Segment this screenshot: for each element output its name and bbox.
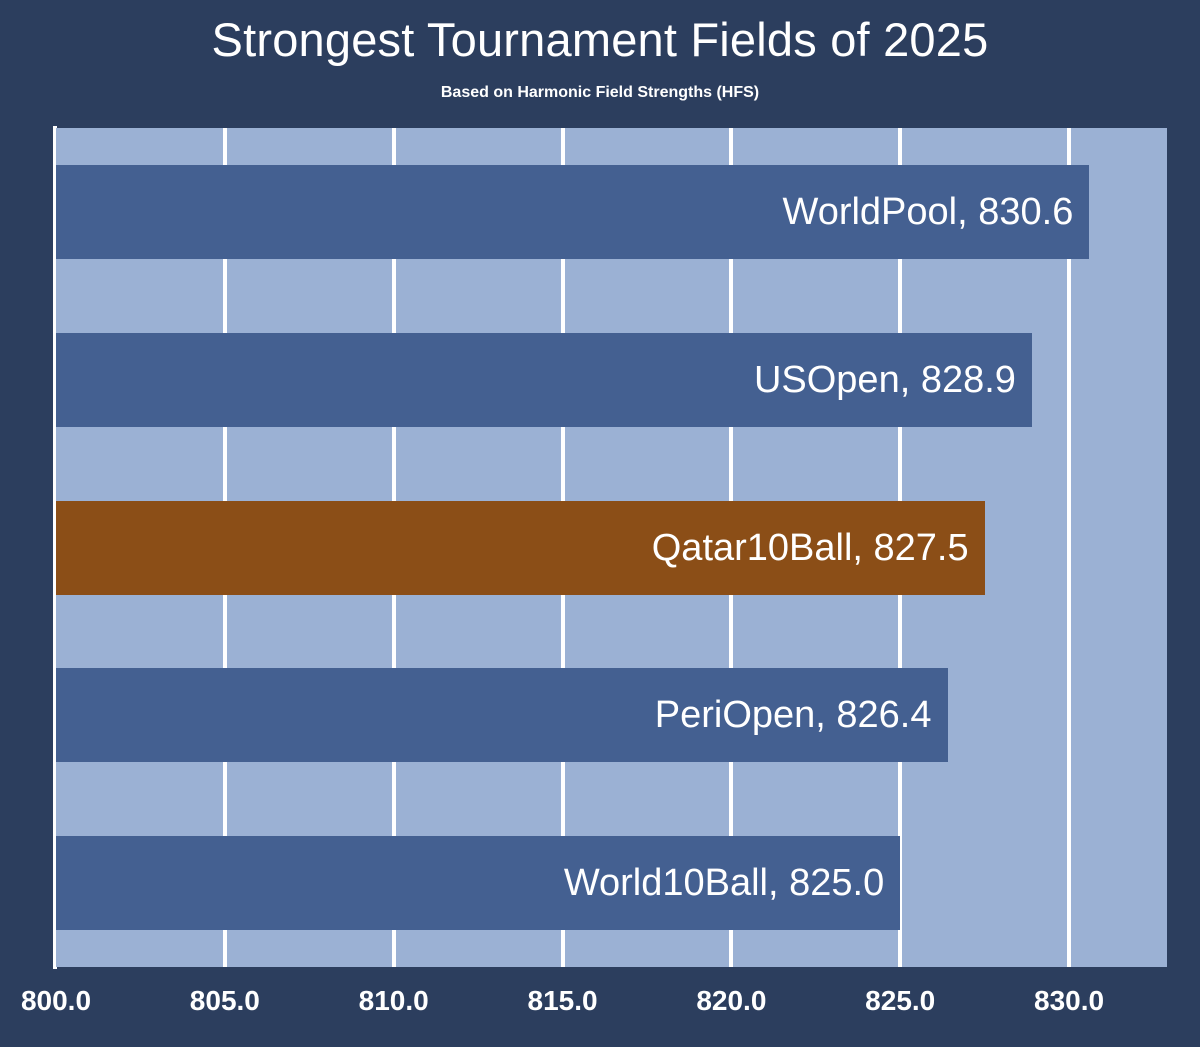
- bar-row: Qatar10Ball, 827.5: [56, 501, 1167, 595]
- bar-data-label: USOpen, 828.9: [754, 361, 1016, 399]
- bar-data-label: WorldPool, 830.6: [783, 193, 1074, 231]
- bar-row: USOpen, 828.9: [56, 333, 1167, 427]
- bar-data-label: PeriOpen, 826.4: [655, 696, 932, 734]
- chart-subtitle: Based on Harmonic Field Strengths (HFS): [0, 84, 1200, 102]
- bar-row: World10Ball, 825.0: [56, 836, 1167, 930]
- plot-area: WorldPool, 830.6USOpen, 828.9Qatar10Ball…: [56, 128, 1167, 967]
- x-tick-830.0: 830.0: [1034, 985, 1104, 1017]
- x-tick-810.0: 810.0: [359, 985, 429, 1017]
- x-tick-805.0: 805.0: [190, 985, 260, 1017]
- bar-row: PeriOpen, 826.4: [56, 668, 1167, 762]
- bar-chart: Strongest Tournament Fields of 2025 Base…: [0, 0, 1200, 1047]
- x-tick-815.0: 815.0: [527, 985, 597, 1017]
- x-tick-825.0: 825.0: [865, 985, 935, 1017]
- bar-qatar10ball[interactable]: Qatar10Ball, 827.5: [56, 501, 985, 595]
- bar-data-label: Qatar10Ball, 827.5: [652, 529, 969, 567]
- bar-worldpool[interactable]: WorldPool, 830.6: [56, 165, 1089, 259]
- bar-data-label: World10Ball, 825.0: [564, 864, 884, 902]
- x-tick-800.0: 800.0: [21, 985, 91, 1017]
- bar-periopen[interactable]: PeriOpen, 826.4: [56, 668, 948, 762]
- bar-world10ball[interactable]: World10Ball, 825.0: [56, 836, 900, 930]
- x-tick-820.0: 820.0: [696, 985, 766, 1017]
- bar-usopen[interactable]: USOpen, 828.9: [56, 333, 1032, 427]
- chart-title: Strongest Tournament Fields of 2025: [0, 14, 1200, 66]
- bar-row: WorldPool, 830.6: [56, 165, 1167, 259]
